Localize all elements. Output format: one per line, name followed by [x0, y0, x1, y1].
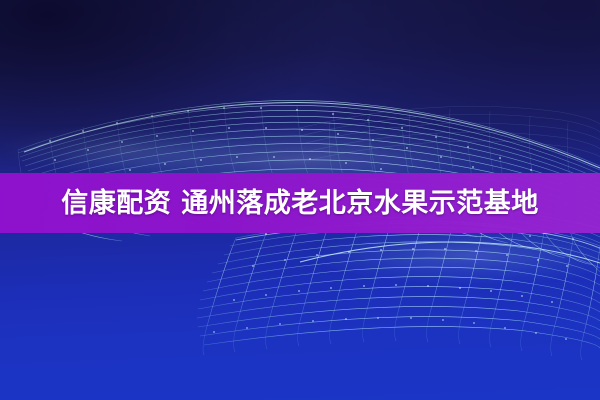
- page-title: 信康配资 通州落成老北京水果示范基地: [61, 190, 538, 217]
- headline-band: 信康配资 通州落成老北京水果示范基地: [0, 173, 600, 233]
- banner-graphic: 信康配资 通州落成老北京水果示范基地: [0, 0, 600, 400]
